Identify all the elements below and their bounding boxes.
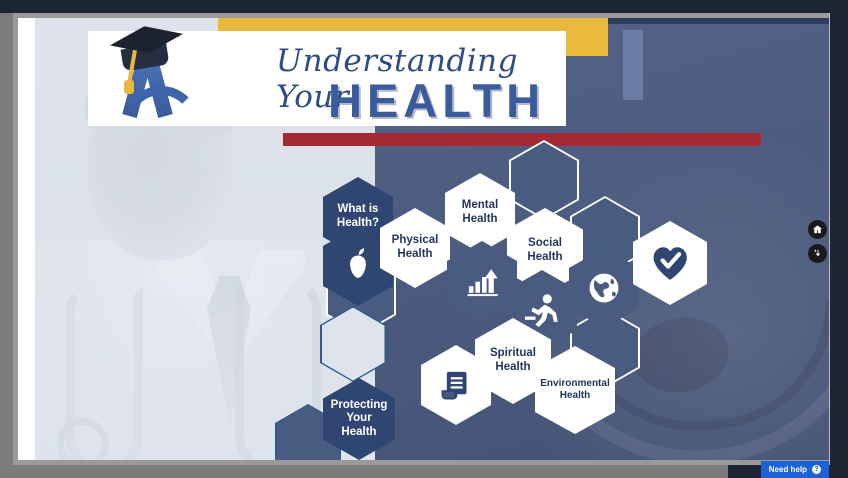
document-icon (435, 361, 477, 409)
home-icon (812, 224, 823, 235)
heart-check-icon (648, 238, 692, 288)
question-mark-icon: ? (812, 465, 821, 474)
hex-growth-chart[interactable] (447, 241, 517, 321)
hex-mental-health[interactable]: Mental Health (445, 173, 515, 253)
hex-decorative-top (509, 140, 579, 220)
hex-label-protecting-your-health: Protecting Your Health (331, 399, 388, 440)
title-banner: Understanding Your HEALTH (88, 31, 566, 126)
right-chrome-bar (830, 0, 848, 478)
graduation-cap-logo (96, 24, 206, 124)
screenshot-root: Understanding Your HEALTH What is Health… (0, 0, 848, 478)
home-button[interactable] (808, 220, 827, 239)
page-title: HEALTH (328, 73, 545, 128)
top-chrome-bar (0, 0, 848, 13)
hex-heart-check[interactable] (633, 221, 707, 305)
need-help-label: Need help (769, 465, 807, 474)
hex-label-mental-health: Mental Health (462, 199, 498, 226)
hex-label-environmental-health: Environmental Health (540, 378, 609, 402)
hex-label-physical-health: Physical Health (392, 234, 439, 261)
hex-label-spiritual-health: Spiritual Health (490, 347, 536, 374)
apple-icon (337, 242, 379, 290)
back-button[interactable] (808, 244, 827, 263)
hex-label-social-health: Social Health (527, 237, 562, 264)
globe-icon (583, 264, 625, 312)
bar-chart-arrow-icon (461, 257, 503, 305)
slide-canvas: Understanding Your HEALTH What is Health… (35, 18, 830, 460)
return-arrow-icon (812, 248, 823, 259)
need-help-button[interactable]: Need help ? (761, 461, 829, 478)
